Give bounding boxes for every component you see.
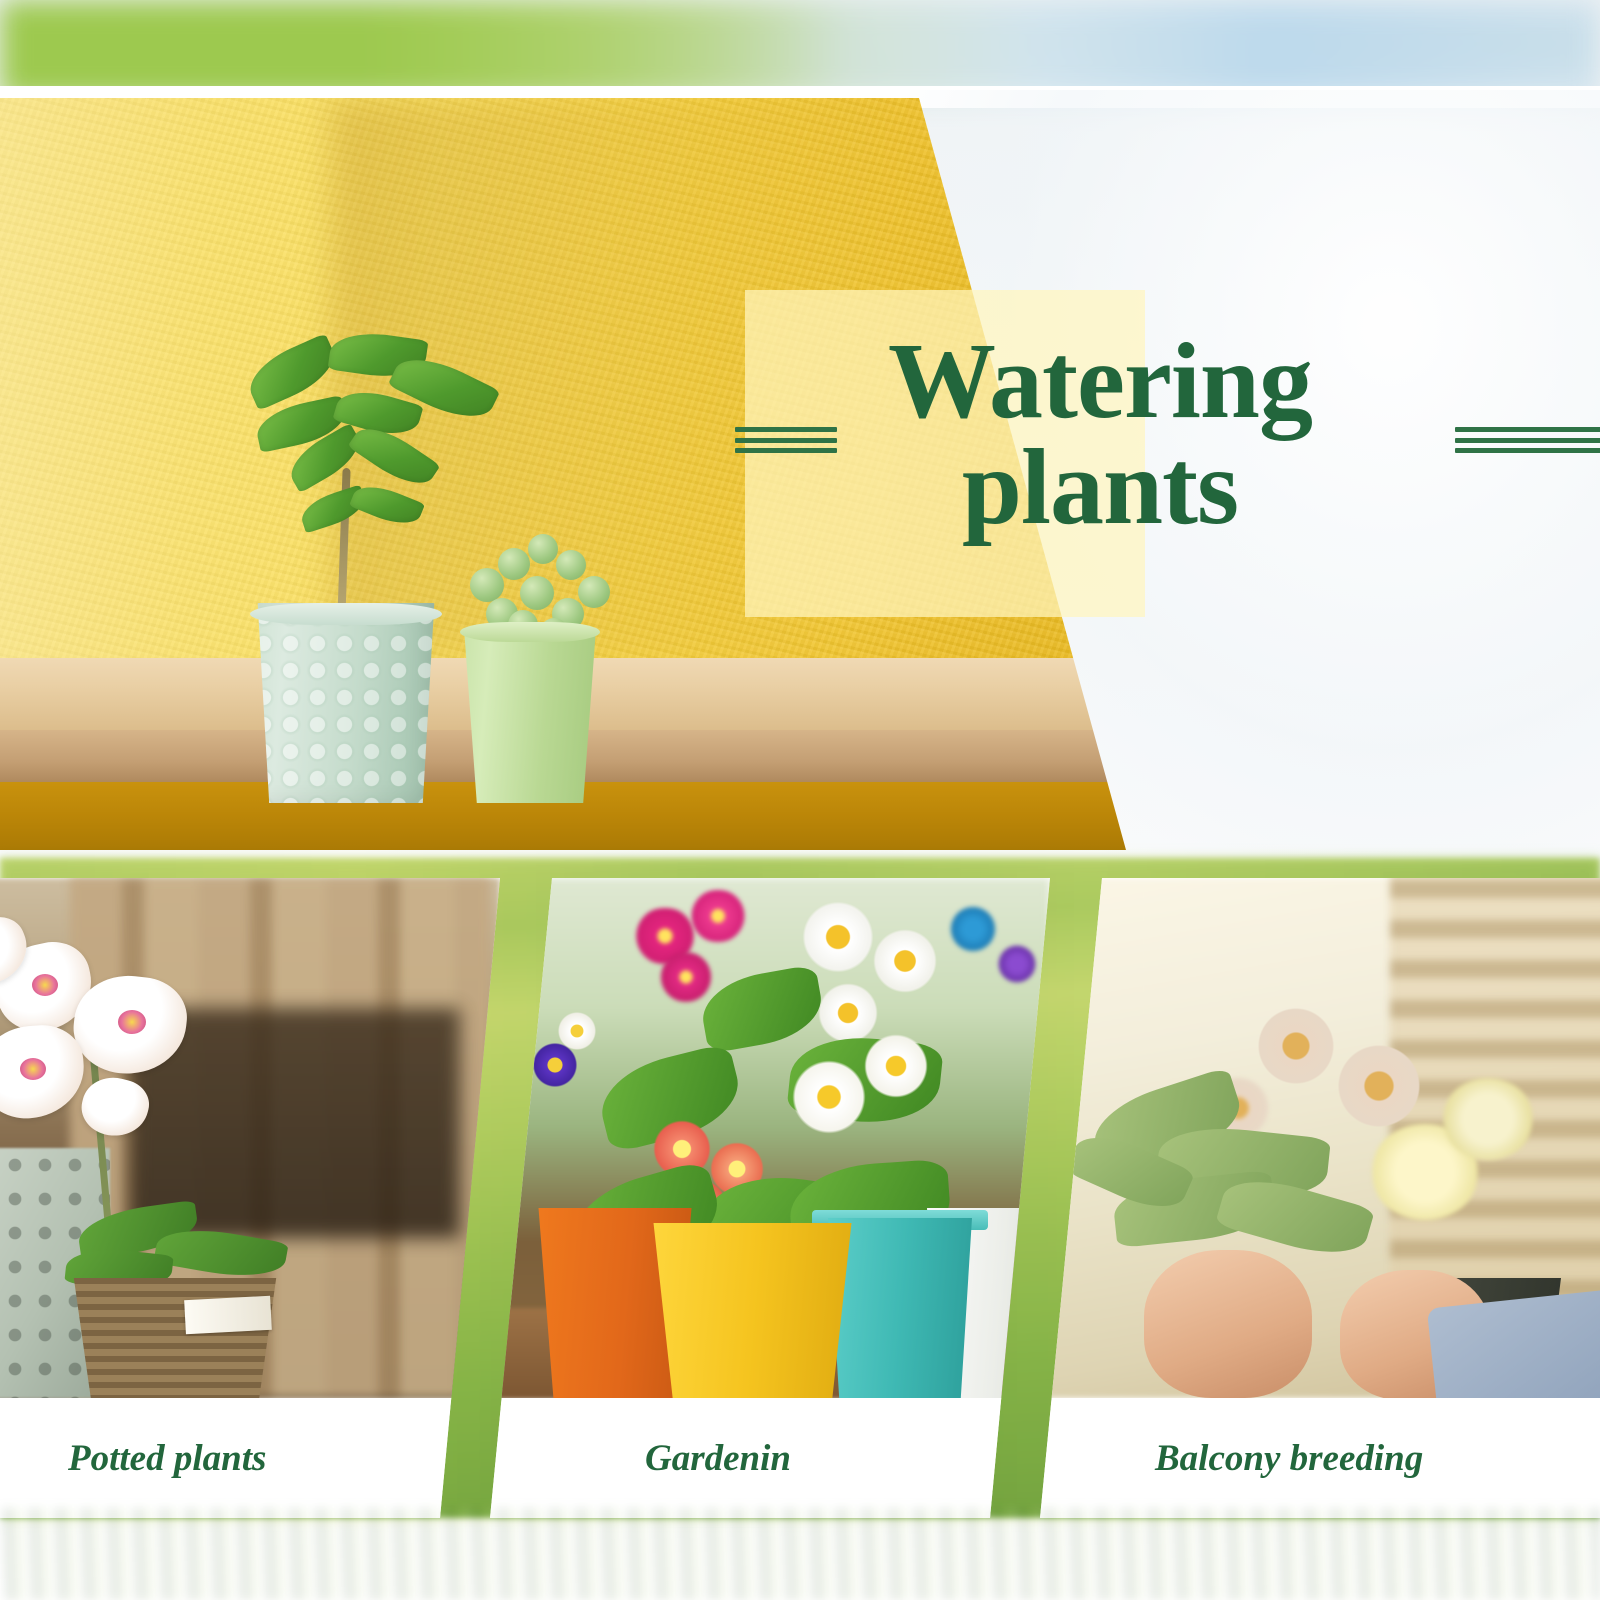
card-caption-text: Gardenin: [645, 1437, 791, 1480]
poster-canvas: Watering plants: [0, 0, 1600, 1600]
succulent-leaf: [470, 568, 504, 602]
card-photo: [1040, 878, 1600, 1398]
title-rule-right: [1455, 427, 1600, 453]
cream-bloom: [1442, 1078, 1534, 1160]
pot-rim: [250, 603, 442, 625]
magenta-bloom: [656, 952, 716, 1002]
card-gardenin[interactable]: Gardenin: [490, 878, 1050, 1518]
thumbnail-row: Potted plants: [0, 858, 1600, 1518]
hand-left: [1144, 1250, 1312, 1398]
white-primrose: [854, 1028, 938, 1104]
card-caption-text: Balcony breeding: [1155, 1437, 1423, 1480]
card-caption: Potted plants: [0, 1398, 500, 1518]
card-caption: Gardenin: [490, 1398, 1050, 1518]
ceramic-pot-green: [460, 631, 600, 803]
price-tag: [184, 1296, 272, 1334]
card-balcony-breeding[interactable]: Balcony breeding: [1040, 878, 1600, 1518]
succulent-leaf: [556, 550, 586, 580]
white-primrose: [552, 1008, 602, 1054]
succulent-leaf: [528, 534, 558, 564]
succulent-leaf: [498, 548, 530, 580]
orchid-center: [20, 1058, 46, 1080]
card-caption: Balcony breeding: [1040, 1398, 1600, 1518]
title-block: Watering plants: [760, 320, 1440, 550]
orchid-center: [32, 974, 58, 996]
ceramic-pot-mint: [250, 603, 442, 803]
rule-line: [1455, 448, 1600, 453]
top-blurred-sky-band: [0, 0, 1600, 100]
card-photo: [0, 878, 500, 1398]
card-photo: [490, 878, 1050, 1398]
pot-dimple-texture: [250, 603, 442, 803]
pot-rim: [460, 622, 600, 642]
succulent-leaf: [578, 576, 610, 608]
purple-bloom: [988, 938, 1046, 990]
succulent-leaf: [520, 576, 554, 610]
orchid-center: [118, 1010, 146, 1034]
rule-line: [1455, 438, 1600, 443]
card-potted-plants[interactable]: Potted plants: [0, 878, 500, 1518]
magenta-bloom: [686, 890, 750, 942]
flowerpot-yellow: [640, 1223, 865, 1398]
page-title: Watering plants: [888, 329, 1312, 541]
grass-blade-texture: [0, 1508, 1600, 1600]
card-caption-text: Potted plants: [68, 1437, 266, 1480]
rule-line: [1455, 427, 1600, 432]
